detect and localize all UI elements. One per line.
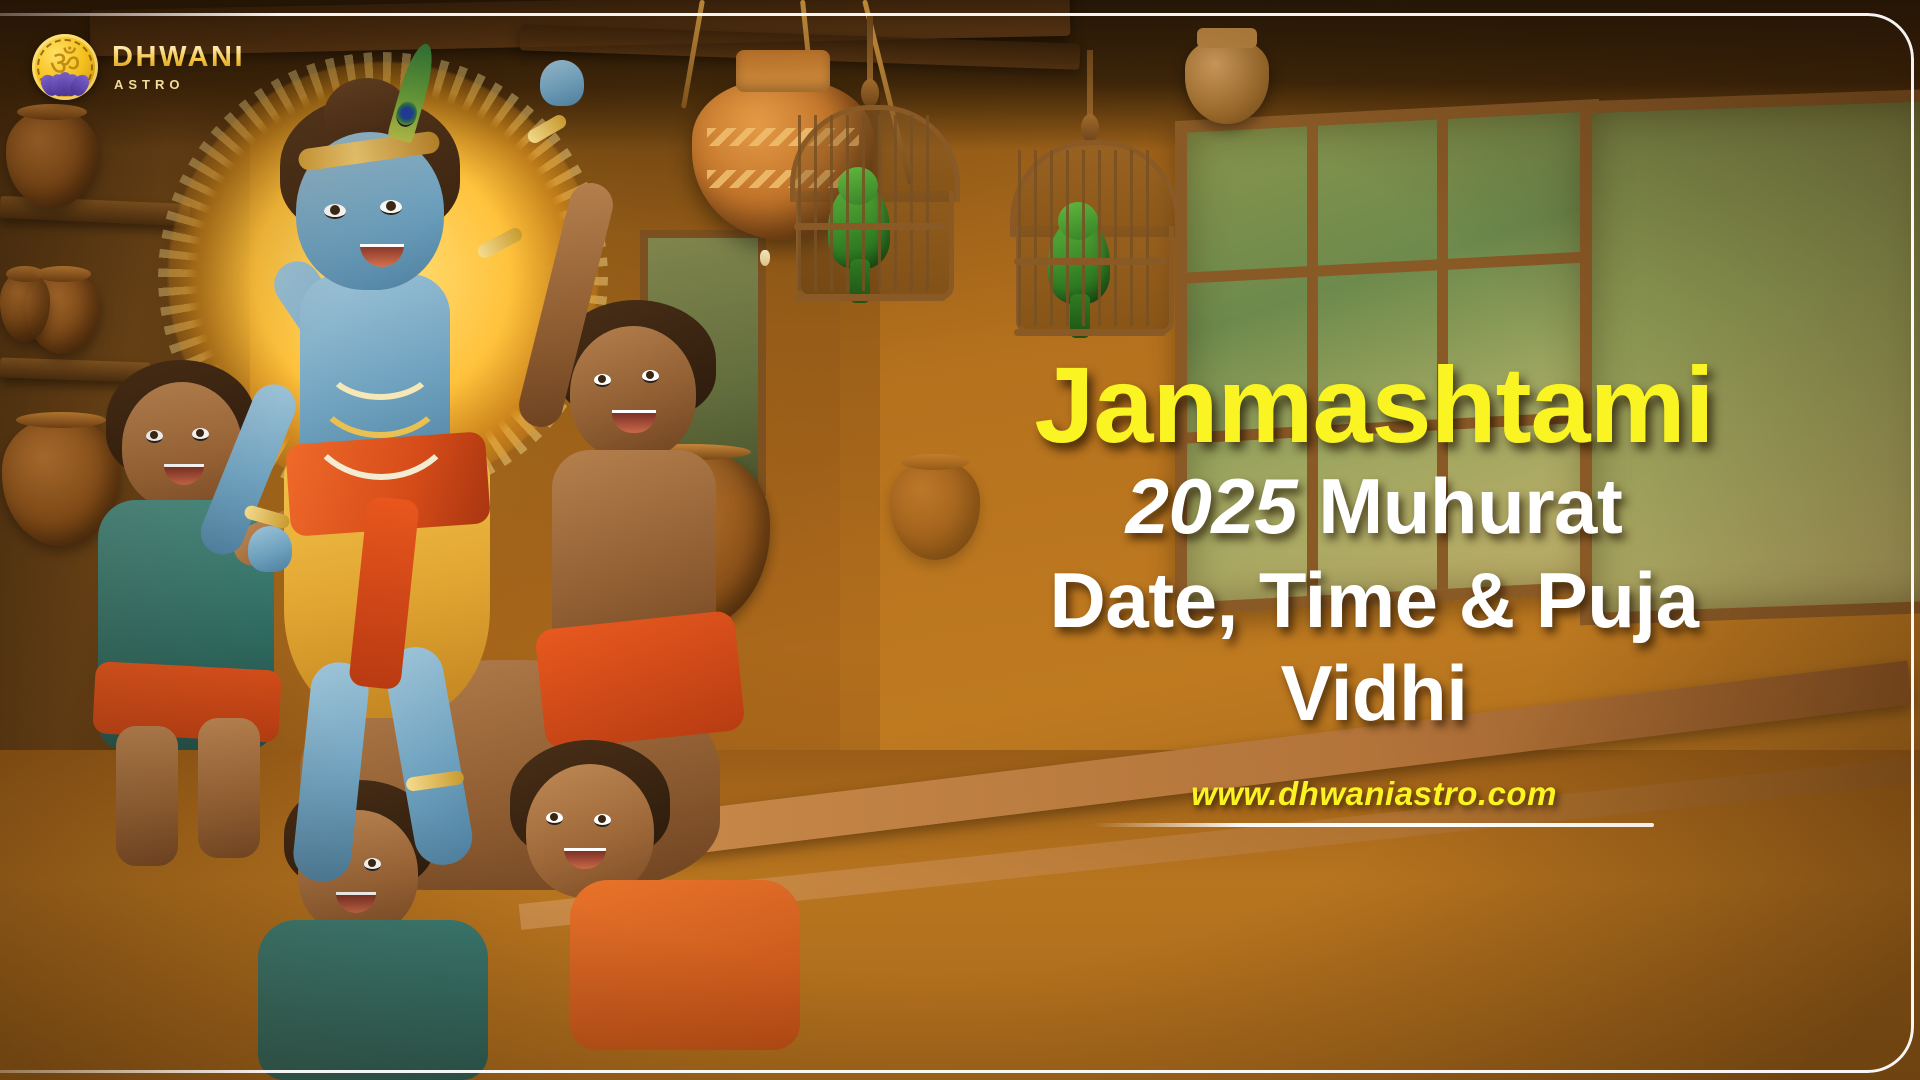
headline-line-2: 2025 Muhurat [874,460,1874,554]
website-url[interactable]: www.dhwaniastro.com [1191,775,1557,813]
headline-year: 2025 [1126,462,1298,550]
krishna-necklace [322,322,438,400]
poster-canvas: ॐ DHWANI ASTRO Janmashtami 2025 Muhurat … [0,0,1920,1080]
headline-line-2-rest: Muhurat [1318,462,1622,550]
butter-drip [760,250,770,266]
om-lotus-emblem-icon: ॐ [32,34,98,100]
krishna-eye [324,204,346,219]
krishna-eye [380,200,402,215]
krishna-hand [248,526,292,572]
child-bottom-right [480,740,800,1080]
birdcage-left [790,105,950,305]
brand-name: DHWANI [112,43,245,72]
headline-block: Janmashtami 2025 Muhurat Date, Time & Pu… [874,350,1874,827]
headline-line-4: Vidhi [874,647,1874,741]
brand-tagline: ASTRO [114,78,245,91]
headline-line-3: Date, Time & Puja [874,554,1874,648]
birdcage-right [1010,140,1170,340]
page-title: Janmashtami [874,350,1874,460]
krishna-bangle [476,226,525,261]
krishna-hand [540,60,584,106]
baby-krishna-figure [240,86,580,786]
underline-rule [1094,823,1654,827]
krishna-bangle [525,112,568,145]
brand-logo[interactable]: ॐ DHWANI ASTRO [32,34,245,100]
